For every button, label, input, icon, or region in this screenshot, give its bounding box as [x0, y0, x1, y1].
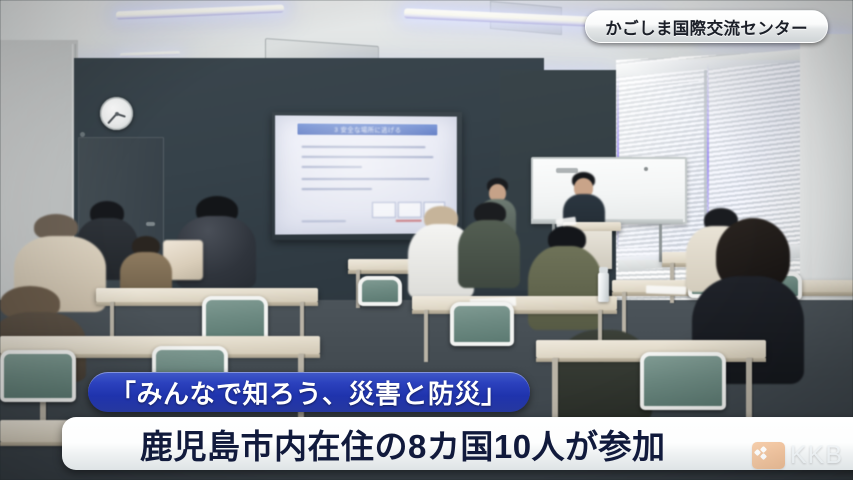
classroom-chair [358, 276, 402, 306]
desk-edge [412, 310, 617, 314]
door-sensor-icon [80, 132, 85, 137]
attendee-body [458, 220, 520, 288]
slide-header-bar: 3 安全な場所に逃げる [297, 124, 437, 136]
water-bottle-cap [599, 267, 608, 273]
door-handle [146, 222, 155, 226]
slide-header-text: 3 安全な場所に逃げる [297, 125, 437, 135]
kkb-logo-icon [752, 442, 785, 469]
water-bottle [598, 272, 609, 302]
slide-text-line [302, 188, 372, 190]
headline-text: 「みんなで知ろう、災害と防災」 [110, 374, 508, 411]
location-label-pill: かごしま国際交流センター [585, 10, 828, 43]
attendee-body [528, 246, 602, 330]
classroom-chair [0, 350, 76, 402]
clock-center-pin [115, 112, 119, 116]
whiteboard-magnet [644, 167, 648, 171]
desk-leg [424, 310, 428, 362]
subtitle-banner: 鹿児島市内在住の8カ国10人が参加 [62, 417, 853, 470]
whiteboard-marker [556, 168, 578, 173]
slide-text-line [302, 178, 430, 180]
slide-figure-box [372, 202, 396, 218]
chair-backrest [358, 276, 402, 306]
slide-highlight [396, 220, 422, 222]
chair-backrest [0, 350, 76, 402]
chair-backrest [640, 352, 726, 410]
slide-text-line [302, 156, 434, 158]
slide-text-line [302, 220, 346, 222]
broadcast-frame: 3 安全な場所に逃げる [0, 0, 853, 480]
whiteboard [531, 157, 687, 224]
station-logo-watermark: KKB [752, 441, 843, 470]
chair-backrest [450, 302, 514, 346]
wall-clock-icon [100, 97, 133, 130]
location-label-text: かごしま国際交流センター [605, 15, 808, 39]
logo-diamond [760, 453, 767, 460]
subtitle-text: 鹿児島市内在住の8カ国10人が参加 [140, 420, 666, 468]
classroom-chair [640, 352, 726, 410]
classroom-chair [450, 302, 514, 346]
station-logo-text: KKB [790, 441, 843, 470]
headline-banner: 「みんなで知ろう、災害と防災」 [88, 372, 530, 412]
slide-figure-box [398, 202, 422, 218]
slide-text-line [302, 146, 426, 148]
desk-leg [622, 292, 626, 336]
slide-text-line [302, 166, 362, 168]
handout-papers [646, 285, 686, 294]
